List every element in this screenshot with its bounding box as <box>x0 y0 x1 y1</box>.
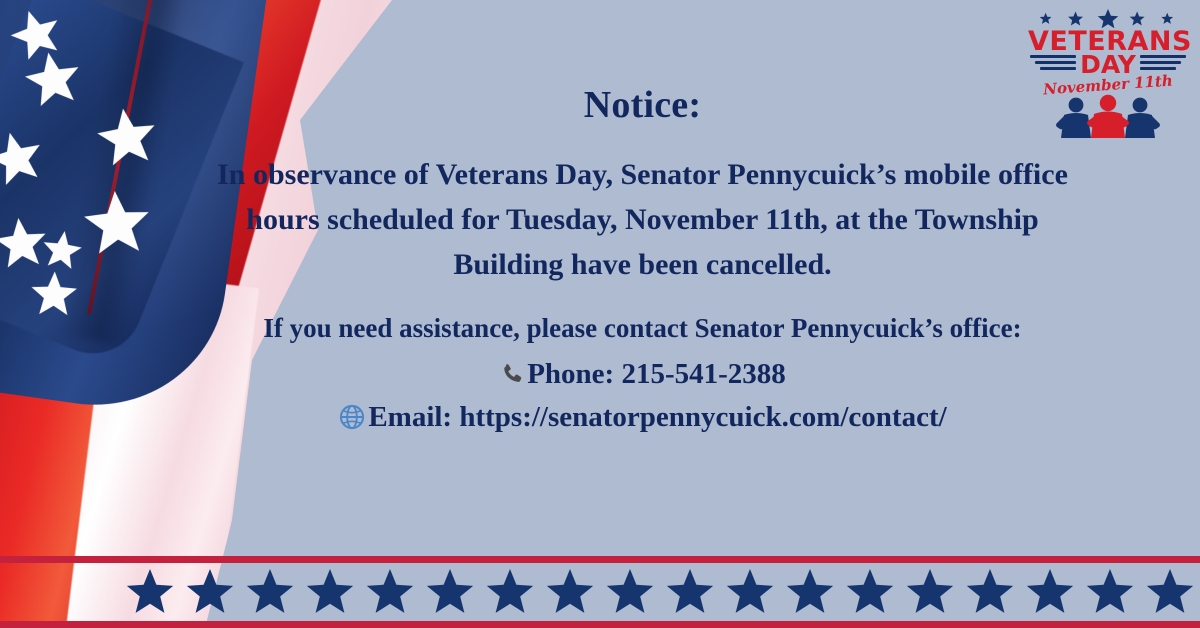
band-star-icon <box>480 566 540 618</box>
flag-star-icon <box>17 43 89 115</box>
band-star-icon <box>420 566 480 618</box>
band-star-icon <box>960 566 1020 618</box>
phone-line: Phone: 215-541-2388 <box>190 354 1095 395</box>
band-star-icon <box>780 566 840 618</box>
notice-main-paragraph: In observance of Veterans Day, Senator P… <box>190 152 1095 287</box>
band-star-icon <box>240 566 300 618</box>
page-title: Notice: <box>190 86 1095 124</box>
band-star-icon <box>120 566 180 618</box>
band-star-icon <box>300 566 360 618</box>
globe-with-meridians-icon <box>338 403 366 431</box>
band-star-icon <box>900 566 960 618</box>
band-star-icon <box>720 566 780 618</box>
band-rule-bottom <box>0 621 1200 628</box>
band-star-icon <box>840 566 900 618</box>
flag-star-icon <box>27 267 81 321</box>
flag-star-icon <box>78 184 157 263</box>
band-star-icon <box>180 566 240 618</box>
flag-star-icon <box>37 225 87 275</box>
logo-day-row: DAY <box>1028 51 1188 79</box>
phone-label: Phone: 215-541-2388 <box>527 354 786 395</box>
email-line: Email: https://senatorpennycuick.com/con… <box>190 397 1095 438</box>
logo-day-text: DAY <box>1028 51 1188 79</box>
band-star-icon <box>1020 566 1080 618</box>
band-star-icon <box>540 566 600 618</box>
band-star-row <box>0 563 1200 621</box>
poster-canvas: VETERANS DAY November 11th <box>0 0 1200 628</box>
band-star-icon <box>600 566 660 618</box>
band-star-icon <box>360 566 420 618</box>
band-star-icon <box>1080 566 1140 618</box>
bottom-star-band <box>0 556 1200 628</box>
notice-contact-paragraph: If you need assistance, please contact S… <box>190 309 1095 348</box>
band-rule-top <box>0 556 1200 563</box>
telephone-receiver-icon <box>499 361 525 387</box>
band-star-icon <box>660 566 720 618</box>
notice-content: Notice: In observance of Veterans Day, S… <box>190 86 1095 437</box>
email-label: Email: https://senatorpennycuick.com/con… <box>368 397 946 438</box>
flag-star-icon <box>90 100 165 175</box>
band-star-icon <box>1140 566 1200 618</box>
